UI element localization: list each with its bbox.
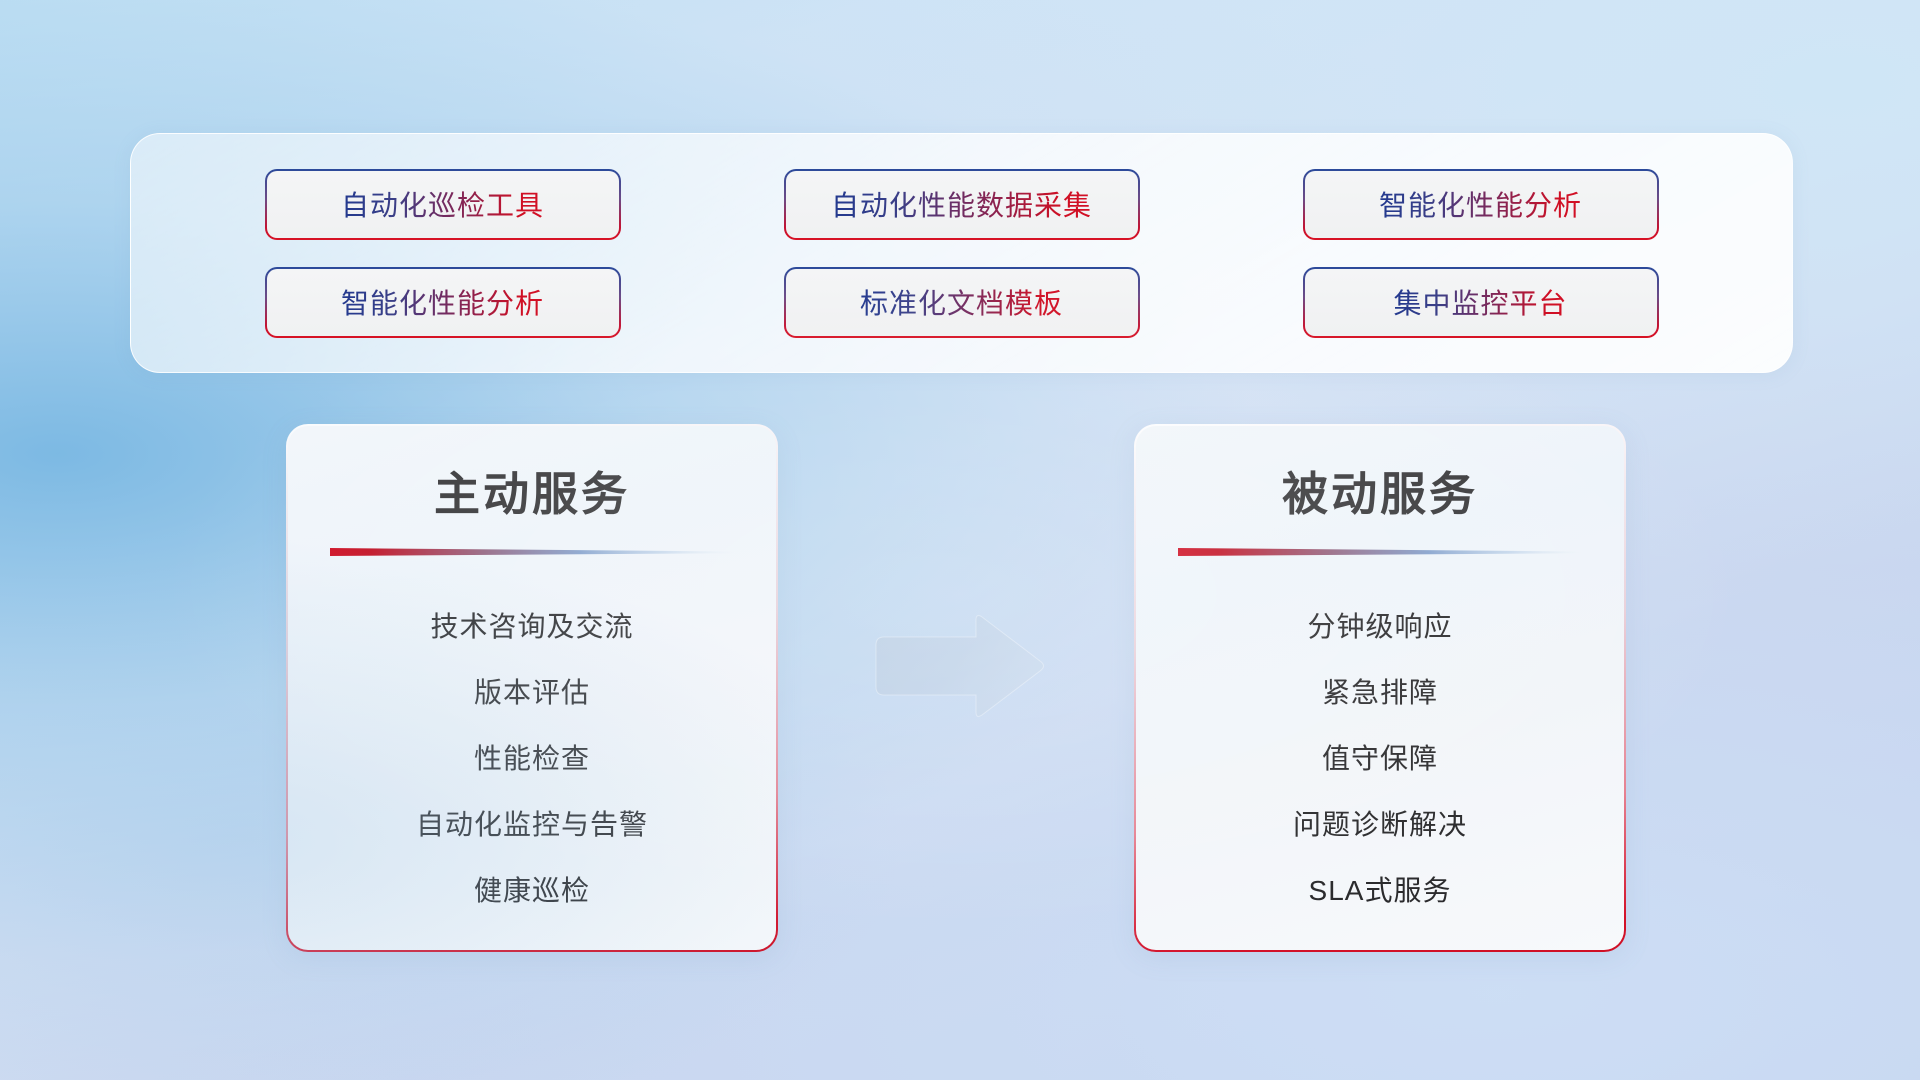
- service-card-proactive-title: 主动服务: [328, 470, 736, 518]
- capability-pill-4-surface: 智能化性能分析: [267, 269, 619, 336]
- capability-pill-6-surface: 集中监控平台: [1305, 269, 1657, 336]
- service-card-proactive-list: 技术咨询及交流 版本评估 性能检查 自动化监控与告警 健康巡检: [328, 599, 736, 919]
- capability-pill-3-label: 智能化性能分析: [1379, 184, 1582, 224]
- capability-pill-4[interactable]: 智能化性能分析: [265, 267, 621, 338]
- list-item: 自动化监控与告警: [328, 797, 736, 853]
- capability-pill-4-label: 智能化性能分析: [341, 282, 544, 322]
- list-item: 性能检查: [328, 731, 736, 787]
- list-item: 技术咨询及交流: [328, 599, 736, 655]
- capability-pill-3-surface: 智能化性能分析: [1305, 171, 1657, 238]
- list-item: 版本评估: [328, 665, 736, 721]
- capability-pill-5[interactable]: 标准化文档模板: [784, 267, 1140, 338]
- service-card-proactive-surface: 主动服务: [288, 426, 776, 950]
- list-item: 分钟级响应: [1176, 599, 1584, 655]
- list-item: 问题诊断解决: [1176, 797, 1584, 853]
- capability-pill-1-label: 自动化巡检工具: [341, 184, 544, 224]
- service-card-reactive[interactable]: 被动服务: [1134, 424, 1626, 952]
- capability-pill-2[interactable]: 自动化性能数据采集: [784, 169, 1140, 240]
- service-card-reactive-surface: 被动服务: [1136, 426, 1624, 950]
- arrow-right-icon: [876, 616, 1044, 717]
- list-item: 值守保障: [1176, 731, 1584, 787]
- capability-pill-1-surface: 自动化巡检工具: [267, 171, 619, 238]
- service-card-reactive-list: 分钟级响应 紧急排障 值守保障 问题诊断解决 SLA式服务: [1176, 599, 1584, 919]
- slide-canvas: 自动化巡检工具 自动化性能数据采集 智能化性能分析 智能化性能分析: [0, 0, 1920, 1080]
- capability-pill-5-label: 标准化文档模板: [860, 282, 1063, 322]
- service-card-proactive-divider: [330, 546, 734, 559]
- capability-pill-6[interactable]: 集中监控平台: [1303, 267, 1659, 338]
- capability-pill-5-surface: 标准化文档模板: [786, 269, 1138, 336]
- capability-pill-3[interactable]: 智能化性能分析: [1303, 169, 1659, 240]
- capability-pill-1[interactable]: 自动化巡检工具: [265, 169, 621, 240]
- service-card-proactive[interactable]: 主动服务: [286, 424, 778, 952]
- capability-pill-2-surface: 自动化性能数据采集: [786, 171, 1138, 238]
- list-item: 健康巡检: [328, 863, 736, 919]
- service-card-reactive-title: 被动服务: [1176, 470, 1584, 518]
- service-card-reactive-divider: [1178, 546, 1582, 559]
- flow-connector: [868, 612, 1046, 730]
- list-item: 紧急排障: [1176, 665, 1584, 721]
- capability-pill-grid: 自动化巡检工具 自动化性能数据采集 智能化性能分析 智能化性能分析: [131, 134, 1792, 372]
- capability-panel: 自动化巡检工具 自动化性能数据采集 智能化性能分析 智能化性能分析: [130, 133, 1793, 373]
- list-item: SLA式服务: [1176, 863, 1584, 919]
- capability-pill-6-label: 集中监控平台: [1393, 282, 1567, 322]
- capability-pill-2-label: 自动化性能数据采集: [831, 184, 1092, 224]
